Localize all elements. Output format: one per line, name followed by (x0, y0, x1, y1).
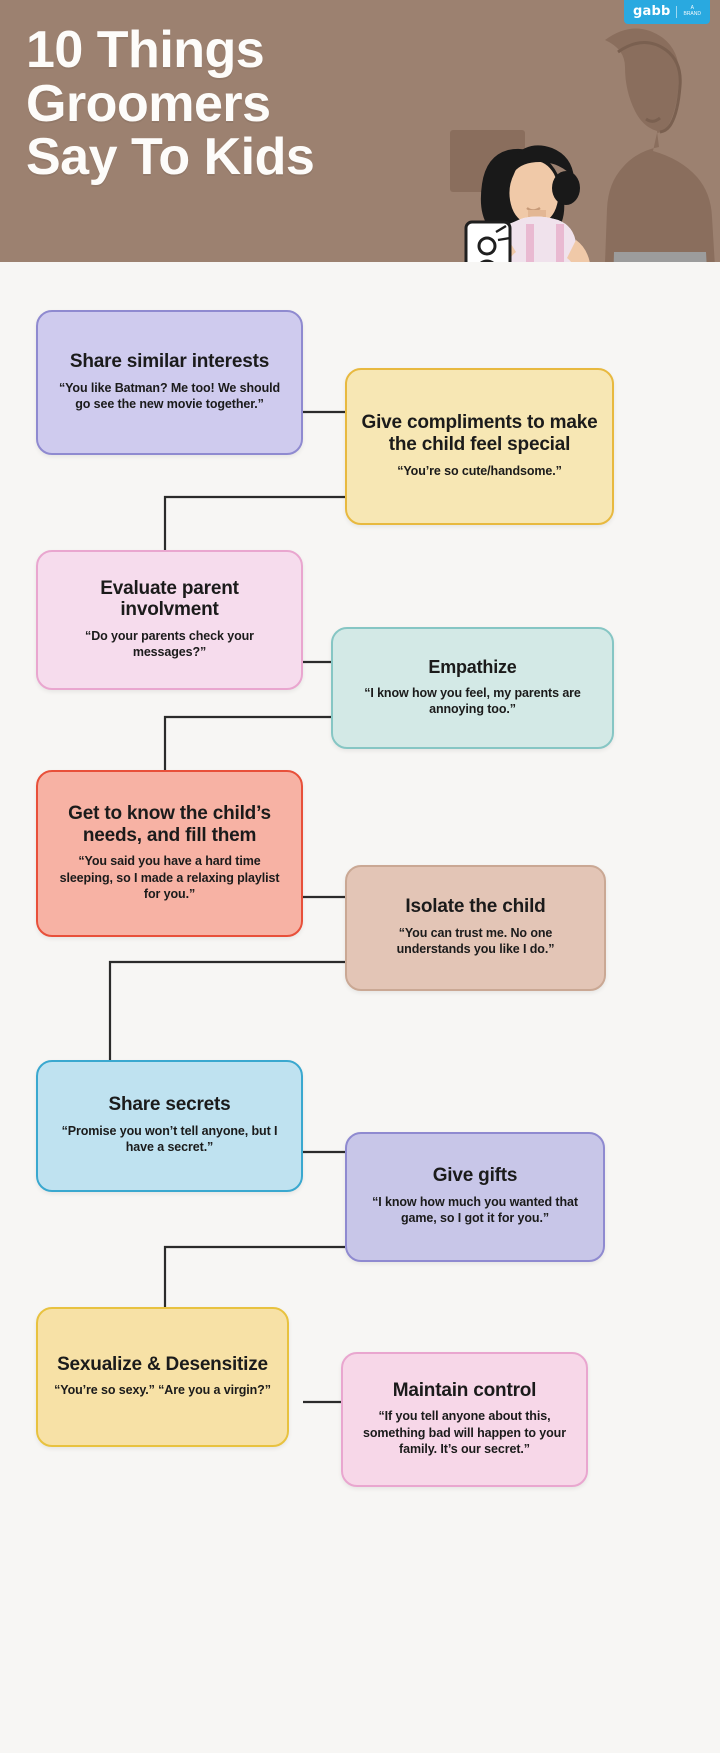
card-quote: “You’re so cute/handsome.” (361, 463, 598, 479)
card-quote: “I know how much you wanted that game, s… (361, 1194, 589, 1227)
page-title-line-3: Say To Kids (26, 131, 314, 185)
card-evaluate-parent-involvment[interactable]: Evaluate parent involvment “Do your pare… (36, 550, 303, 690)
card-title: Share secrets (52, 1094, 287, 1116)
page-title: 10 Things Groomers Say To Kids (26, 24, 314, 185)
card-maintain-control[interactable]: Maintain control “If you tell anyone abo… (341, 1352, 588, 1487)
card-give-compliments[interactable]: Give compliments to make the child feel … (345, 368, 614, 525)
card-isolate-the-child[interactable]: Isolate the child “You can trust me. No … (345, 865, 606, 991)
card-title: Empathize (347, 657, 598, 678)
card-quote: “You’re so sexy.” “Are you a virgin?” (52, 1382, 273, 1398)
card-title: Isolate the child (361, 896, 590, 918)
card-quote: “You said you have a hard time sleeping,… (52, 853, 287, 902)
card-quote: “You like Batman? Me too! We should go s… (52, 380, 287, 413)
card-title: Maintain control (357, 1380, 572, 1402)
card-share-similar-interests[interactable]: Share similar interests “You like Batman… (36, 310, 303, 455)
infographic-page: gabb A BRAND 10 Things Groomers Say To K… (0, 0, 720, 1753)
card-give-gifts[interactable]: Give gifts “I know how much you wanted t… (345, 1132, 605, 1262)
card-quote: “You can trust me. No one understands yo… (361, 925, 590, 958)
card-title: Share similar interests (52, 351, 287, 373)
page-title-line-2: Groomers (26, 78, 314, 132)
card-title: Give gifts (361, 1165, 589, 1187)
card-quote: “If you tell anyone about this, somethin… (357, 1408, 572, 1457)
page-title-line-1: 10 Things (26, 24, 264, 78)
flow-diagram: Share similar interests “You like Batman… (0, 262, 720, 1753)
card-title: Get to know the child’s needs, and fill … (52, 803, 287, 846)
header-banner: gabb A BRAND 10 Things Groomers Say To K… (0, 0, 720, 262)
card-title: Give compliments to make the child feel … (361, 412, 598, 455)
card-sexualize-desensitize[interactable]: Sexualize & Desensitize “You’re so sexy.… (36, 1307, 289, 1447)
card-quote: “Do your parents check your messages?” (52, 628, 287, 661)
card-quote: “Promise you won’t tell anyone, but I ha… (52, 1123, 287, 1156)
card-quote: “I know how you feel, my parents are ann… (347, 685, 598, 718)
card-title: Sexualize & Desensitize (52, 1354, 273, 1376)
card-title: Evaluate parent involvment (52, 578, 287, 621)
card-empathize[interactable]: Empathize “I know how you feel, my paren… (331, 627, 614, 749)
child-with-phone-and-adult-silhouette-icon (390, 0, 720, 262)
card-get-to-know-needs[interactable]: Get to know the child’s needs, and fill … (36, 770, 303, 937)
card-share-secrets[interactable]: Share secrets “Promise you won’t tell an… (36, 1060, 303, 1192)
